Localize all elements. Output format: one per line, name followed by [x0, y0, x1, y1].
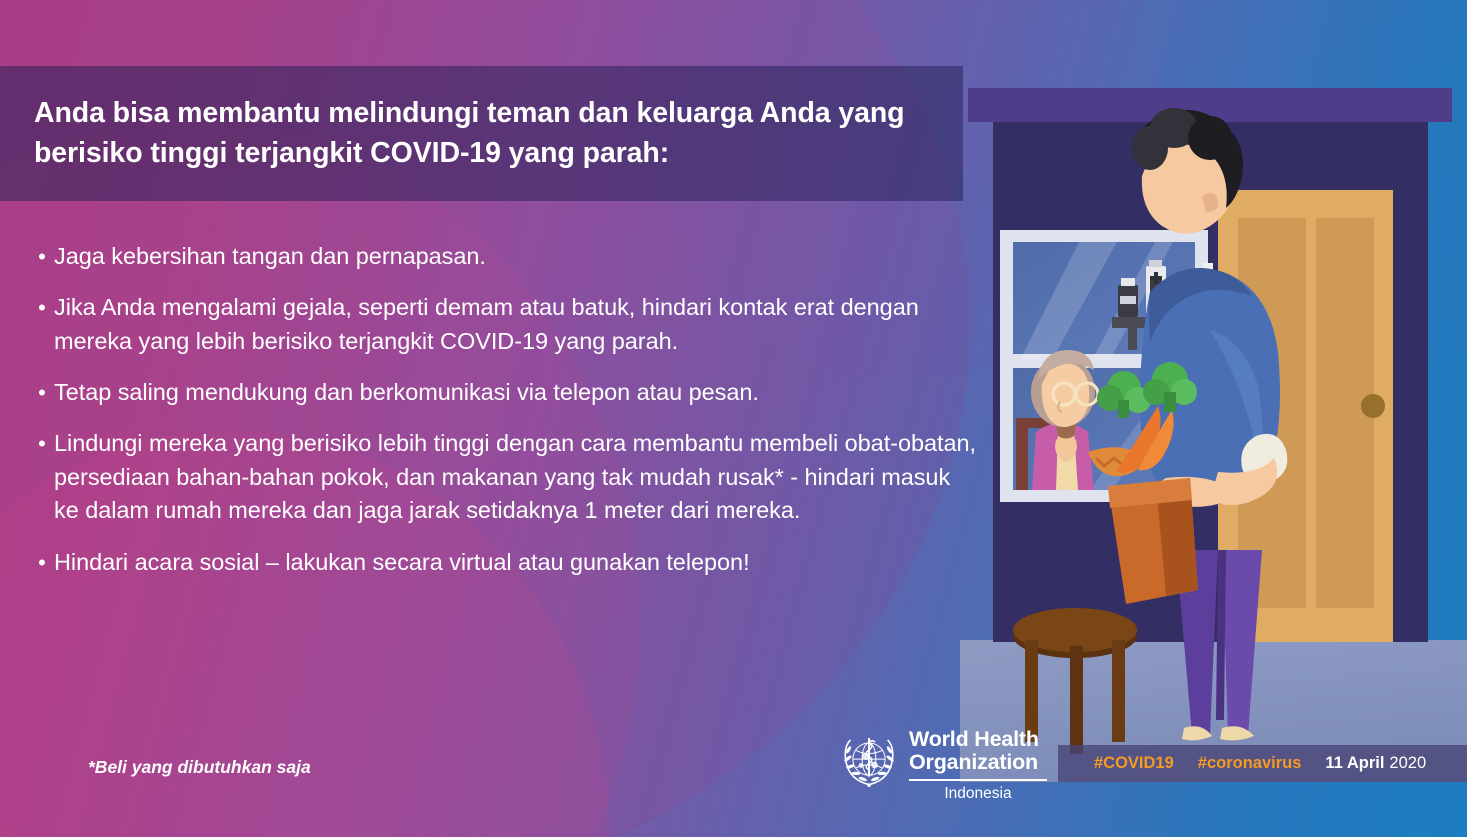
who-wordmark: World Health Organization Indonesia [909, 728, 1047, 803]
list-item: • Jika Anda mengalami gejala, seperti de… [30, 291, 980, 358]
bullet-list: • Jaga kebersihan tangan dan pernapasan.… [30, 240, 980, 597]
list-item: • Hindari acara sosial – lakukan secara … [30, 546, 980, 579]
page-title: Anda bisa membantu melindungi teman dan … [0, 94, 963, 173]
hashtag-coronavirus[interactable]: #coronavirus [1198, 754, 1302, 773]
woman-face [1042, 363, 1090, 427]
bullet-marker-icon: • [30, 241, 54, 272]
bullet-marker-icon: • [30, 292, 54, 323]
date-year: 2020 [1389, 754, 1426, 773]
list-item-text: Hindari acara sosial – lakukan secara vi… [54, 546, 980, 579]
footnote: *Beli yang dibutuhkan saja [88, 757, 311, 778]
who-emblem-icon [838, 730, 900, 792]
hashtag-covid19[interactable]: #COVID19 [1094, 754, 1174, 773]
list-item: • Tetap saling mendukung dan berkomunika… [30, 376, 980, 409]
who-logo: World Health Organization Indonesia [838, 728, 1047, 803]
list-item-text: Jaga kebersihan tangan dan pernapasan. [54, 240, 980, 273]
hashtag-date-bar: #COVID19 #coronavirus 11 April 2020 [1058, 745, 1467, 782]
who-name-line2: Organization [909, 751, 1047, 774]
illustration-scene [960, 80, 1467, 782]
who-name-line1: World Health [909, 728, 1047, 751]
hashtag-date-inner: #COVID19 #coronavirus 11 April 2020 [1058, 754, 1426, 773]
list-item: • Jaga kebersihan tangan dan pernapasan. [30, 240, 980, 273]
date-day-month: 11 April [1325, 754, 1384, 773]
who-country-label: Indonesia [909, 785, 1047, 803]
door-knob [1361, 394, 1385, 418]
list-item: • Lindungi mereka yang berisiko lebih ti… [30, 427, 980, 527]
bullet-marker-icon: • [30, 428, 54, 459]
list-item-text: Lindungi mereka yang berisiko lebih ting… [54, 427, 980, 527]
who-divider [909, 779, 1047, 781]
bullet-marker-icon: • [30, 377, 54, 408]
poster-canvas: Anda bisa membantu melindungi teman dan … [0, 0, 1467, 837]
chair [1016, 418, 1028, 490]
list-item-text: Tetap saling mendukung dan berkomunikasi… [54, 376, 980, 409]
list-item-text: Jika Anda mengalami gejala, seperti dema… [54, 291, 980, 358]
bullet-marker-icon: • [30, 547, 54, 578]
headline-banner: Anda bisa membantu melindungi teman dan … [0, 66, 963, 201]
